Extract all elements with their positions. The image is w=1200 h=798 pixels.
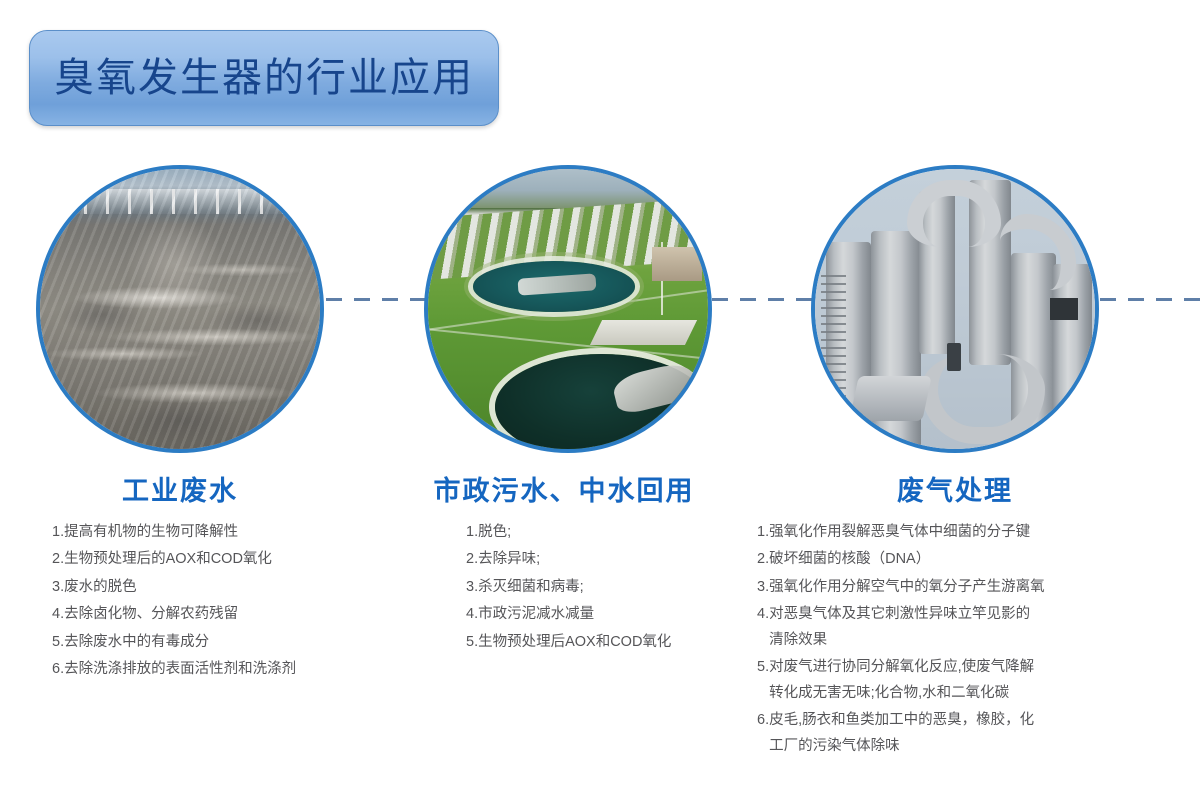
list-item-text: 强氧化作用裂解恶臭气体中细菌的分子键 bbox=[769, 525, 1127, 540]
list-item: 5. 对废气进行协同分解氧化反应,使废气降解 转化成无害无味;化合物,水和二氧化… bbox=[757, 660, 1127, 700]
list-item-number: 6. bbox=[52, 662, 64, 677]
list-item-text: 废水的脱色 bbox=[64, 580, 372, 595]
list-item-text: 提高有机物的生物可降解性 bbox=[64, 525, 372, 540]
list-item: 6. 去除洗涤排放的表面活性剂和洗涤剂 bbox=[52, 662, 372, 677]
municipal-sewage-photo-circle bbox=[424, 165, 712, 453]
list-item: 4. 对恶臭气体及其它刺激性异味立竿见影的 清除效果 bbox=[757, 607, 1127, 647]
list-item-number: 5. bbox=[52, 635, 64, 650]
exhaust-gas-photo-circle bbox=[811, 165, 1099, 453]
list-item-text: 杀灭细菌和病毒; bbox=[478, 580, 766, 595]
municipal-sewage-treatment-plant-aerial-photo bbox=[428, 169, 708, 449]
list-item-line-1: 对恶臭气体及其它刺激性异味立竿见影的 bbox=[769, 606, 1030, 622]
list-item-number: 1. bbox=[52, 525, 64, 540]
list-item: 2. 生物预处理后的AOX和COD氧化 bbox=[52, 552, 372, 567]
list-item-text: 市政污泥减水减量 bbox=[478, 607, 766, 622]
list-item-number: 5. bbox=[466, 635, 478, 650]
list-item-text: 去除洗涤排放的表面活性剂和洗涤剂 bbox=[64, 662, 372, 677]
list-item-number: 5. bbox=[757, 660, 769, 675]
list-item-number: 2. bbox=[52, 552, 64, 567]
industrial-wastewater-aeration-basin-photo bbox=[40, 169, 320, 449]
list-item-number: 3. bbox=[52, 580, 64, 595]
list-item: 5. 生物预处理后AOX和COD氧化 bbox=[466, 635, 766, 650]
item-list-municipal-sewage: 1. 脱色; 2. 去除异味; 3. 杀灭细菌和病毒; 4. 市政污泥减水减量 … bbox=[466, 525, 766, 650]
list-item-line-2: 清除效果 bbox=[769, 633, 1127, 648]
list-item: 1. 脱色; bbox=[466, 525, 766, 540]
connector-after-column-2 bbox=[712, 298, 820, 301]
list-item-number: 4. bbox=[52, 607, 64, 622]
list-item-text: 去除卤化物、分解农药残留 bbox=[64, 607, 372, 622]
industrial-wastewater-photo-circle bbox=[36, 165, 324, 453]
basin-railing-detail bbox=[40, 189, 320, 214]
list-item-text: 对废气进行协同分解氧化反应,使废气降解 转化成无害无味;化合物,水和二氧化碳 bbox=[769, 660, 1127, 700]
list-item: 2. 破坏细菌的核酸（DNA） bbox=[757, 552, 1127, 567]
column-heading-municipal-sewage: 市政污水、中水回用 bbox=[410, 477, 718, 507]
column-exhaust-gas-treatment: 废气处理 1. 强氧化作用裂解恶臭气体中细菌的分子键 2. 破坏细菌的核酸（DN… bbox=[805, 165, 1105, 768]
list-item-text: 生物预处理后AOX和COD氧化 bbox=[478, 635, 766, 650]
lower-duct-detail bbox=[849, 376, 931, 421]
clarifier-bridge-detail bbox=[518, 273, 597, 296]
duct-elbow-detail bbox=[921, 354, 1045, 444]
slide-title-text: 臭氧发生器的行业应用 bbox=[54, 58, 474, 98]
list-item-number: 4. bbox=[466, 607, 478, 622]
duct-column-detail bbox=[1053, 264, 1092, 449]
list-item-number: 6. bbox=[757, 713, 769, 728]
list-item-text: 去除异味; bbox=[478, 552, 766, 567]
list-item-number: 3. bbox=[466, 580, 478, 595]
list-item-number: 1. bbox=[757, 525, 769, 540]
clarifier-bridge-detail bbox=[611, 359, 699, 416]
list-item: 3. 强氧化作用分解空气中的氧分子产生游离氧 bbox=[757, 580, 1127, 595]
exhaust-gas-treatment-ducting-photo bbox=[815, 169, 1095, 449]
list-item-line-1: 皮毛,肠衣和鱼类加工中的恶臭，橡胶，化 bbox=[769, 712, 1034, 728]
list-item-line-2: 转化成无害无味;化合物,水和二氧化碳 bbox=[769, 686, 1127, 701]
column-heading-exhaust-gas-treatment: 废气处理 bbox=[805, 477, 1105, 507]
access-ladder-detail bbox=[821, 275, 846, 404]
connector-after-column-3 bbox=[1100, 298, 1200, 301]
list-item: 1. 强氧化作用裂解恶臭气体中细菌的分子键 bbox=[757, 525, 1127, 540]
list-item: 3. 杀灭细菌和病毒; bbox=[466, 580, 766, 595]
item-list-exhaust-gas-treatment: 1. 强氧化作用裂解恶臭气体中细菌的分子键 2. 破坏细菌的核酸（DNA） 3.… bbox=[757, 525, 1127, 754]
list-item-number: 2. bbox=[466, 552, 478, 567]
duct-elbow-detail bbox=[1000, 214, 1077, 291]
list-item-text: 脱色; bbox=[478, 525, 766, 540]
list-item-text: 皮毛,肠衣和鱼类加工中的恶臭，橡胶，化 工厂的污染气体除味 bbox=[769, 713, 1127, 753]
column-heading-industrial-wastewater: 工业废水 bbox=[30, 477, 330, 507]
list-item: 2. 去除异味; bbox=[466, 552, 766, 567]
list-item: 3. 废水的脱色 bbox=[52, 580, 372, 595]
upper-clarifier-detail bbox=[473, 261, 635, 311]
plant-building-detail bbox=[652, 247, 702, 281]
list-item: 4. 市政污泥减水减量 bbox=[466, 607, 766, 622]
list-item-line-1: 对废气进行协同分解氧化反应,使废气降解 bbox=[769, 659, 1034, 675]
concrete-pad-detail bbox=[590, 320, 697, 345]
column-municipal-sewage: 市政污水、中水回用 1. 脱色; 2. 去除异味; 3. 杀灭细菌和病毒; 4.… bbox=[418, 165, 718, 664]
slide-title-banner: 臭氧发生器的行业应用 bbox=[29, 30, 499, 126]
list-item-number: 3. bbox=[757, 580, 769, 595]
list-item-text: 去除废水中的有毒成分 bbox=[64, 635, 372, 650]
list-item: 6. 皮毛,肠衣和鱼类加工中的恶臭，橡胶，化 工厂的污染气体除味 bbox=[757, 713, 1127, 753]
list-item: 5. 去除废水中的有毒成分 bbox=[52, 635, 372, 650]
list-item-number: 4. bbox=[757, 607, 769, 622]
list-item: 1. 提高有机物的生物可降解性 bbox=[52, 525, 372, 540]
control-panel-detail bbox=[1050, 298, 1078, 320]
list-item: 4. 去除卤化物、分解农药残留 bbox=[52, 607, 372, 622]
list-item-number: 1. bbox=[466, 525, 478, 540]
list-item-text: 强氧化作用分解空气中的氧分子产生游离氧 bbox=[769, 580, 1127, 595]
list-item-text: 生物预处理后的AOX和COD氧化 bbox=[64, 552, 372, 567]
list-item-text: 破坏细菌的核酸（DNA） bbox=[769, 552, 1127, 567]
list-item-line-2: 工厂的污染气体除味 bbox=[769, 739, 1127, 754]
list-item-number: 2. bbox=[757, 552, 769, 567]
column-industrial-wastewater: 工业废水 1. 提高有机物的生物可降解性 2. 生物预处理后的AOX和COD氧化… bbox=[30, 165, 330, 691]
item-list-industrial-wastewater: 1. 提高有机物的生物可降解性 2. 生物预处理后的AOX和COD氧化 3. 废… bbox=[52, 525, 372, 677]
list-item-text: 对恶臭气体及其它刺激性异味立竿见影的 清除效果 bbox=[769, 607, 1127, 647]
lower-clarifier-detail bbox=[495, 354, 708, 453]
duct-opening-detail bbox=[947, 343, 961, 371]
